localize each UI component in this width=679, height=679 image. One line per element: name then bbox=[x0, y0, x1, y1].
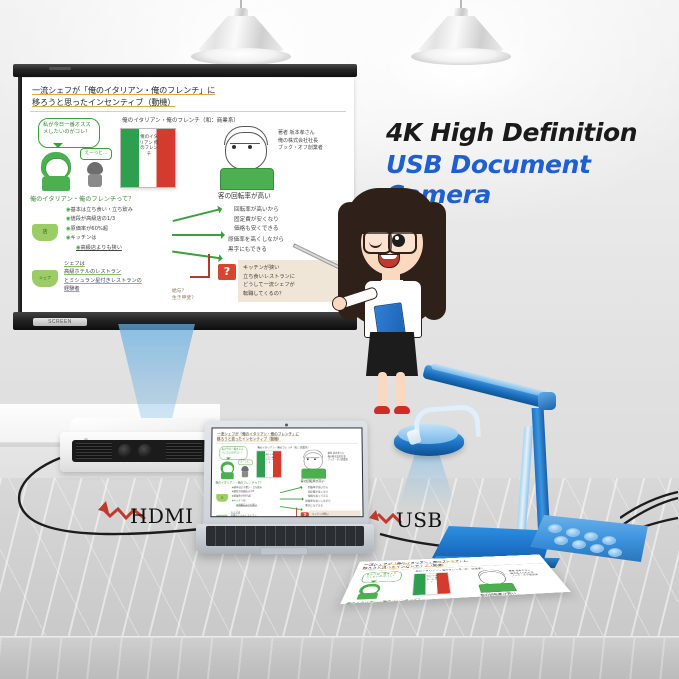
center-heading-mirror: 俺のイタリアン・俺のフレンチ（和：商業系） bbox=[257, 445, 310, 449]
green-arrow bbox=[172, 234, 224, 236]
right-text-1-mirror: 回転率が高いから 固定費が安くなり 価格も安くできる bbox=[308, 486, 361, 499]
red-arrow bbox=[190, 254, 210, 278]
desk-doc-author: 著者 坂本孝さん 俺の株式会社社長 ブック・オフ創業者 bbox=[508, 568, 555, 577]
hdmi-label: HDMI bbox=[130, 504, 193, 528]
section-left-mirror: 俺のイタリアン・俺のフレンチって？ bbox=[215, 480, 262, 484]
slide-divider bbox=[30, 111, 346, 112]
slide-mini-figure bbox=[84, 162, 106, 188]
presenter-bangs bbox=[346, 188, 436, 234]
camera-button-2[interactable] bbox=[566, 528, 580, 537]
bullet-list-mirror: 基本は立ち食い・立ち飲み 値段が高級店の1/3 原価率が60%超 キッチンは 高… bbox=[232, 486, 296, 507]
red-arrow bbox=[288, 508, 297, 518]
desk-doc-book: 俺のイタリアン 俺のフレンチ bbox=[412, 572, 451, 595]
man-eye-left bbox=[307, 458, 309, 460]
question-badge-mirror: ? bbox=[301, 512, 309, 517]
slide-girl-figure bbox=[36, 150, 78, 190]
camera-arm-joint[interactable] bbox=[538, 392, 556, 410]
laptop: 一流シェフが「俺のイタリアン・俺のフレンチ」に移ろうと思ったインセンティブ（動機… bbox=[196, 420, 374, 560]
camera-button-6[interactable] bbox=[572, 540, 586, 549]
bullet-item: 基本は立ち食い・立ち飲み bbox=[66, 206, 206, 215]
desk-doc-bubble: 私が今日一番オススメしたいのがコレ！ bbox=[360, 571, 402, 583]
camera-cable-loop bbox=[413, 404, 481, 442]
laptop-webcam-icon bbox=[285, 423, 288, 426]
minifig-body bbox=[88, 174, 102, 187]
slide-content: 一流シェフが「俺のイタリアン・俺のフレンチ」に 移ろうと思ったインセンティブ（動… bbox=[22, 78, 354, 312]
ceiling-lamp-left bbox=[193, 0, 289, 62]
slide-chip-chef: シェフ bbox=[32, 270, 58, 287]
slide-section-left: 俺のイタリアン・俺のフレンチって？ bbox=[30, 194, 134, 203]
book-cover-mirror: 俺のイタリアン 俺のフレンチ bbox=[256, 451, 281, 478]
man-eye-right bbox=[314, 458, 316, 460]
presenter-eye bbox=[392, 234, 405, 247]
slide-title-mirror: 一流シェフが「俺のイタリアン・俺のフレンチ」に移ろうと思ったインセンティブ（動機… bbox=[217, 431, 357, 442]
right-text-2-mirror: 原価率を高くしながら 黒字にもできる bbox=[305, 499, 360, 508]
question-note-mirror: キッチンが狭い 立ち食いレストランに どうして一流シェフが 転職してくるの？ bbox=[310, 510, 361, 517]
slide-title-line2: 移ろうと思ったインセンティブ（動機） bbox=[32, 97, 175, 107]
slide-book-cover: 俺のイタリアン 俺のフレンチ bbox=[120, 128, 176, 188]
small-tag-mirror: えーっと… bbox=[238, 460, 252, 465]
minifig-body bbox=[242, 471, 248, 477]
section-right-mirror: 客の回転率が高い bbox=[301, 479, 325, 484]
lamp-ring bbox=[191, 48, 291, 65]
girl-body bbox=[221, 472, 234, 479]
book-title-mirror: 俺のイタリアン 俺のフレンチ bbox=[265, 454, 274, 464]
slide-author-note: 著者 坂本孝さん 俺の株式会社社長 ブック・オフ創業者 bbox=[278, 130, 350, 153]
speech-bubble: 私が今日一番オススメしたいのがコレ！ bbox=[38, 118, 100, 148]
man-body bbox=[220, 168, 274, 190]
slide-section-right: 客の回転率が高い bbox=[218, 190, 271, 200]
slide-chip-store: 店 bbox=[32, 224, 58, 241]
slide-small-tag: えーっと… bbox=[80, 148, 112, 160]
slide-center-heading: 俺のイタリアン・俺のフレンチ（和：商業系） bbox=[122, 116, 239, 124]
girl-body bbox=[356, 592, 378, 599]
slide-small-question: 給与？ 生き甲斐？ bbox=[172, 288, 196, 302]
author-note-mirror: 著者 坂本孝さん 俺の株式会社社長 ブック・オフ創業者 bbox=[328, 452, 361, 462]
bullet-item: 原価率が60%超 bbox=[66, 225, 206, 234]
screen-brand-badge: SCREEN bbox=[33, 318, 87, 326]
ceiling-lamp-right bbox=[413, 0, 509, 62]
presenter-shoe-left bbox=[374, 406, 390, 414]
camera-light-beam bbox=[398, 452, 456, 508]
camera-button-4[interactable] bbox=[602, 536, 616, 545]
slide-bullet-list: 基本は立ち食い・立ち飲み 値段が高級店の1/3 原価率が60%超 キッチンは 高… bbox=[66, 206, 206, 253]
laptop-trackpad[interactable] bbox=[260, 547, 308, 555]
girl-figure-mirror bbox=[218, 461, 237, 479]
headline-line-1: 4K High Definition bbox=[386, 118, 668, 148]
girl-body bbox=[42, 176, 70, 191]
chef-note-mirror: シェフは 高級ホテルのレストラン とミシュラン星付きレストランの 経験者 bbox=[231, 510, 295, 517]
chip-store-mirror: 店 bbox=[216, 494, 228, 502]
mini-figure-mirror bbox=[240, 466, 250, 478]
laptop-screen: 一流シェフが「俺のイタリアン・俺のフレンチ」に移ろうと思ったインセンティブ（動機… bbox=[210, 427, 363, 517]
camera-button-5[interactable] bbox=[554, 536, 568, 545]
product-marketing-image: 一流シェフが「俺のイタリアン・俺のフレンチ」に 移ろうと思ったインセンティブ（動… bbox=[0, 0, 679, 679]
slide-question-badge: ? bbox=[218, 264, 236, 280]
man-eye-right bbox=[248, 145, 252, 149]
camera-button-8[interactable] bbox=[608, 548, 622, 557]
chip-chef-mirror: シェフ bbox=[216, 515, 228, 517]
man-eye-left bbox=[232, 145, 236, 149]
screen-top-bar bbox=[13, 64, 357, 77]
man-body bbox=[301, 469, 325, 479]
laptop-lid: 一流シェフが「俺のイタリアン・俺のフレンチ」に移ろうと思ったインセンティブ（動機… bbox=[203, 421, 368, 527]
camera-button-7[interactable] bbox=[590, 544, 604, 553]
man-figure-mirror bbox=[301, 450, 326, 478]
laptop-keyboard[interactable] bbox=[206, 526, 364, 546]
camera-button-3[interactable] bbox=[584, 532, 598, 541]
book-title-text: 俺のイタリアン 俺のフレンチ bbox=[139, 135, 159, 157]
slide-title: 一流シェフが「俺のイタリアン・俺のフレンチ」に 移ろうと思ったインセンティブ（動… bbox=[32, 84, 344, 108]
presenter-skirt bbox=[366, 332, 418, 376]
screen-canvas: 一流シェフが「俺のイタリアン・俺のフレンチ」に 移ろうと思ったインセンティブ（動… bbox=[22, 78, 354, 312]
projection-screen: 一流シェフが「俺のイタリアン・俺のフレンチ」に 移ろうと思ったインセンティブ（動… bbox=[13, 64, 357, 330]
slide-title-line1: 一流シェフが「俺のイタリアン・俺のフレンチ」に bbox=[32, 85, 215, 95]
camera-control-panel[interactable] bbox=[530, 512, 648, 562]
desk-doc-girl bbox=[352, 582, 386, 599]
slide-man-figure bbox=[218, 126, 274, 188]
desk-doc-book-title: 俺のイタリアン 俺のフレンチ bbox=[426, 575, 439, 583]
desk-front-panel bbox=[0, 638, 679, 679]
green-arrow bbox=[280, 499, 304, 500]
minifig-head bbox=[87, 162, 103, 174]
speech-bubble-mirror: 私が今日一番オススメしたいのがコレ！ bbox=[219, 446, 247, 459]
lamp-ring bbox=[411, 48, 511, 65]
presenter-leg-left bbox=[378, 372, 387, 410]
camera-button-1[interactable] bbox=[548, 524, 562, 533]
presenter-hand bbox=[332, 296, 347, 311]
laptop-slide-mirror: 一流シェフが「俺のイタリアン・俺のフレンチ」に移ろうと思ったインセンティブ（動機… bbox=[211, 428, 363, 517]
